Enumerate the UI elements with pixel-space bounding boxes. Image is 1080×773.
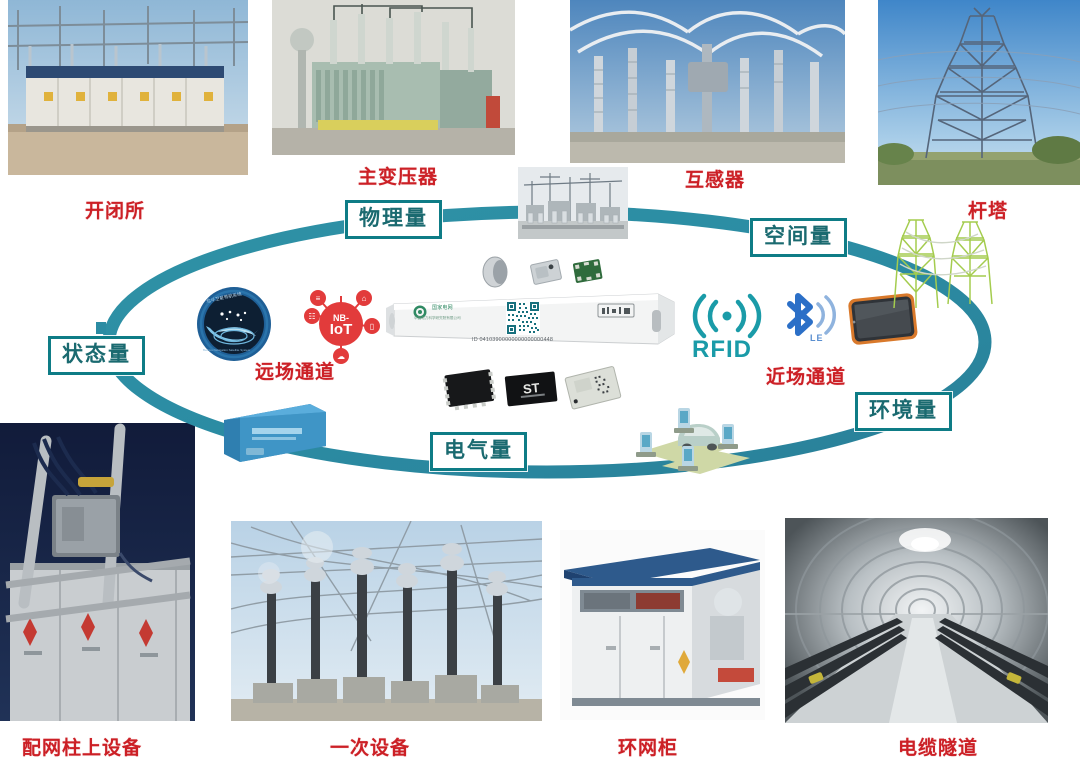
photo-primary-equipment	[231, 521, 542, 721]
beidou-bottom-text: BeiDou Navigation Satellite System	[203, 348, 250, 352]
ev-charging-station	[626, 402, 762, 478]
node-box-environment-quantity[interactable]: 环境量	[855, 392, 952, 431]
photo-transmission-tower	[878, 0, 1080, 185]
svg-text:☁: ☁	[337, 352, 345, 361]
device-brand-text: 国家电网	[432, 304, 453, 311]
diagram-canvas: 北斗卫星导航系统 BeiDou Navigation Satellite Sys…	[0, 0, 1080, 773]
label-switching-station: 开闭所	[85, 196, 145, 223]
photo-switching-station	[8, 0, 248, 175]
rfid-icon	[690, 292, 764, 340]
svg-text:≡: ≡	[316, 294, 321, 303]
iot-terminal-device: 国家电网 中国电力科学研究院有限公司 ID 041039000000000000…	[386, 288, 676, 350]
node-box-electrical-quantity[interactable]: 电气量	[430, 432, 527, 471]
photo-pole-mounted-device	[0, 423, 195, 721]
node-box-spatial-quantity[interactable]: 空间量	[750, 218, 847, 257]
device-sub-text: 中国电力科学研究院有限公司	[414, 316, 461, 321]
photo-cable-tunnel	[785, 518, 1048, 723]
label-main-transformer: 主变压器	[358, 162, 438, 189]
label-pole-mounted-device: 配网柱上设备	[22, 733, 142, 760]
label-ring-main-unit: 环网柜	[618, 733, 678, 760]
photo-substation-thumb	[518, 167, 628, 239]
photo-instrument-transformer	[570, 0, 845, 163]
rfid-label: RFID	[692, 336, 752, 364]
label-far-field-channel: 远场通道	[255, 357, 335, 384]
tower-clipart	[890, 208, 996, 312]
label-cable-tunnel: 电缆隧道	[898, 733, 978, 760]
nb-iot-emblem: ≡⌂ ☷▯ ☁ NB- IoT	[298, 282, 384, 366]
label-primary-equipment: 一次设备	[330, 733, 410, 760]
svg-text:☷: ☷	[308, 312, 315, 321]
beidou-satellite-badge: 北斗卫星导航系统 BeiDou Navigation Satellite Sys…	[196, 286, 272, 362]
svg-text:⌂: ⌂	[362, 294, 367, 303]
nb-iot-line2: IoT	[318, 324, 364, 335]
node-box-state-quantity[interactable]: 状态量	[48, 336, 145, 375]
photo-main-transformer	[272, 0, 515, 155]
label-near-field-channel: 近场通道	[766, 362, 846, 389]
bluetooth-icon	[776, 288, 842, 350]
label-instrument-transformer: 互感器	[685, 165, 745, 192]
svg-text:▯: ▯	[370, 322, 374, 331]
photo-ring-main-unit	[560, 530, 765, 720]
sensor-components-top	[478, 252, 608, 292]
device-id-text: ID 04103900000000000000448	[472, 337, 553, 343]
energy-storage-container	[218, 398, 330, 468]
node-box-physical-quantity[interactable]: 物理量	[345, 200, 442, 239]
nb-iot-label: NB- IoT	[318, 313, 364, 335]
chip-components: ST	[434, 364, 624, 416]
svg-text:ST: ST	[522, 380, 540, 397]
